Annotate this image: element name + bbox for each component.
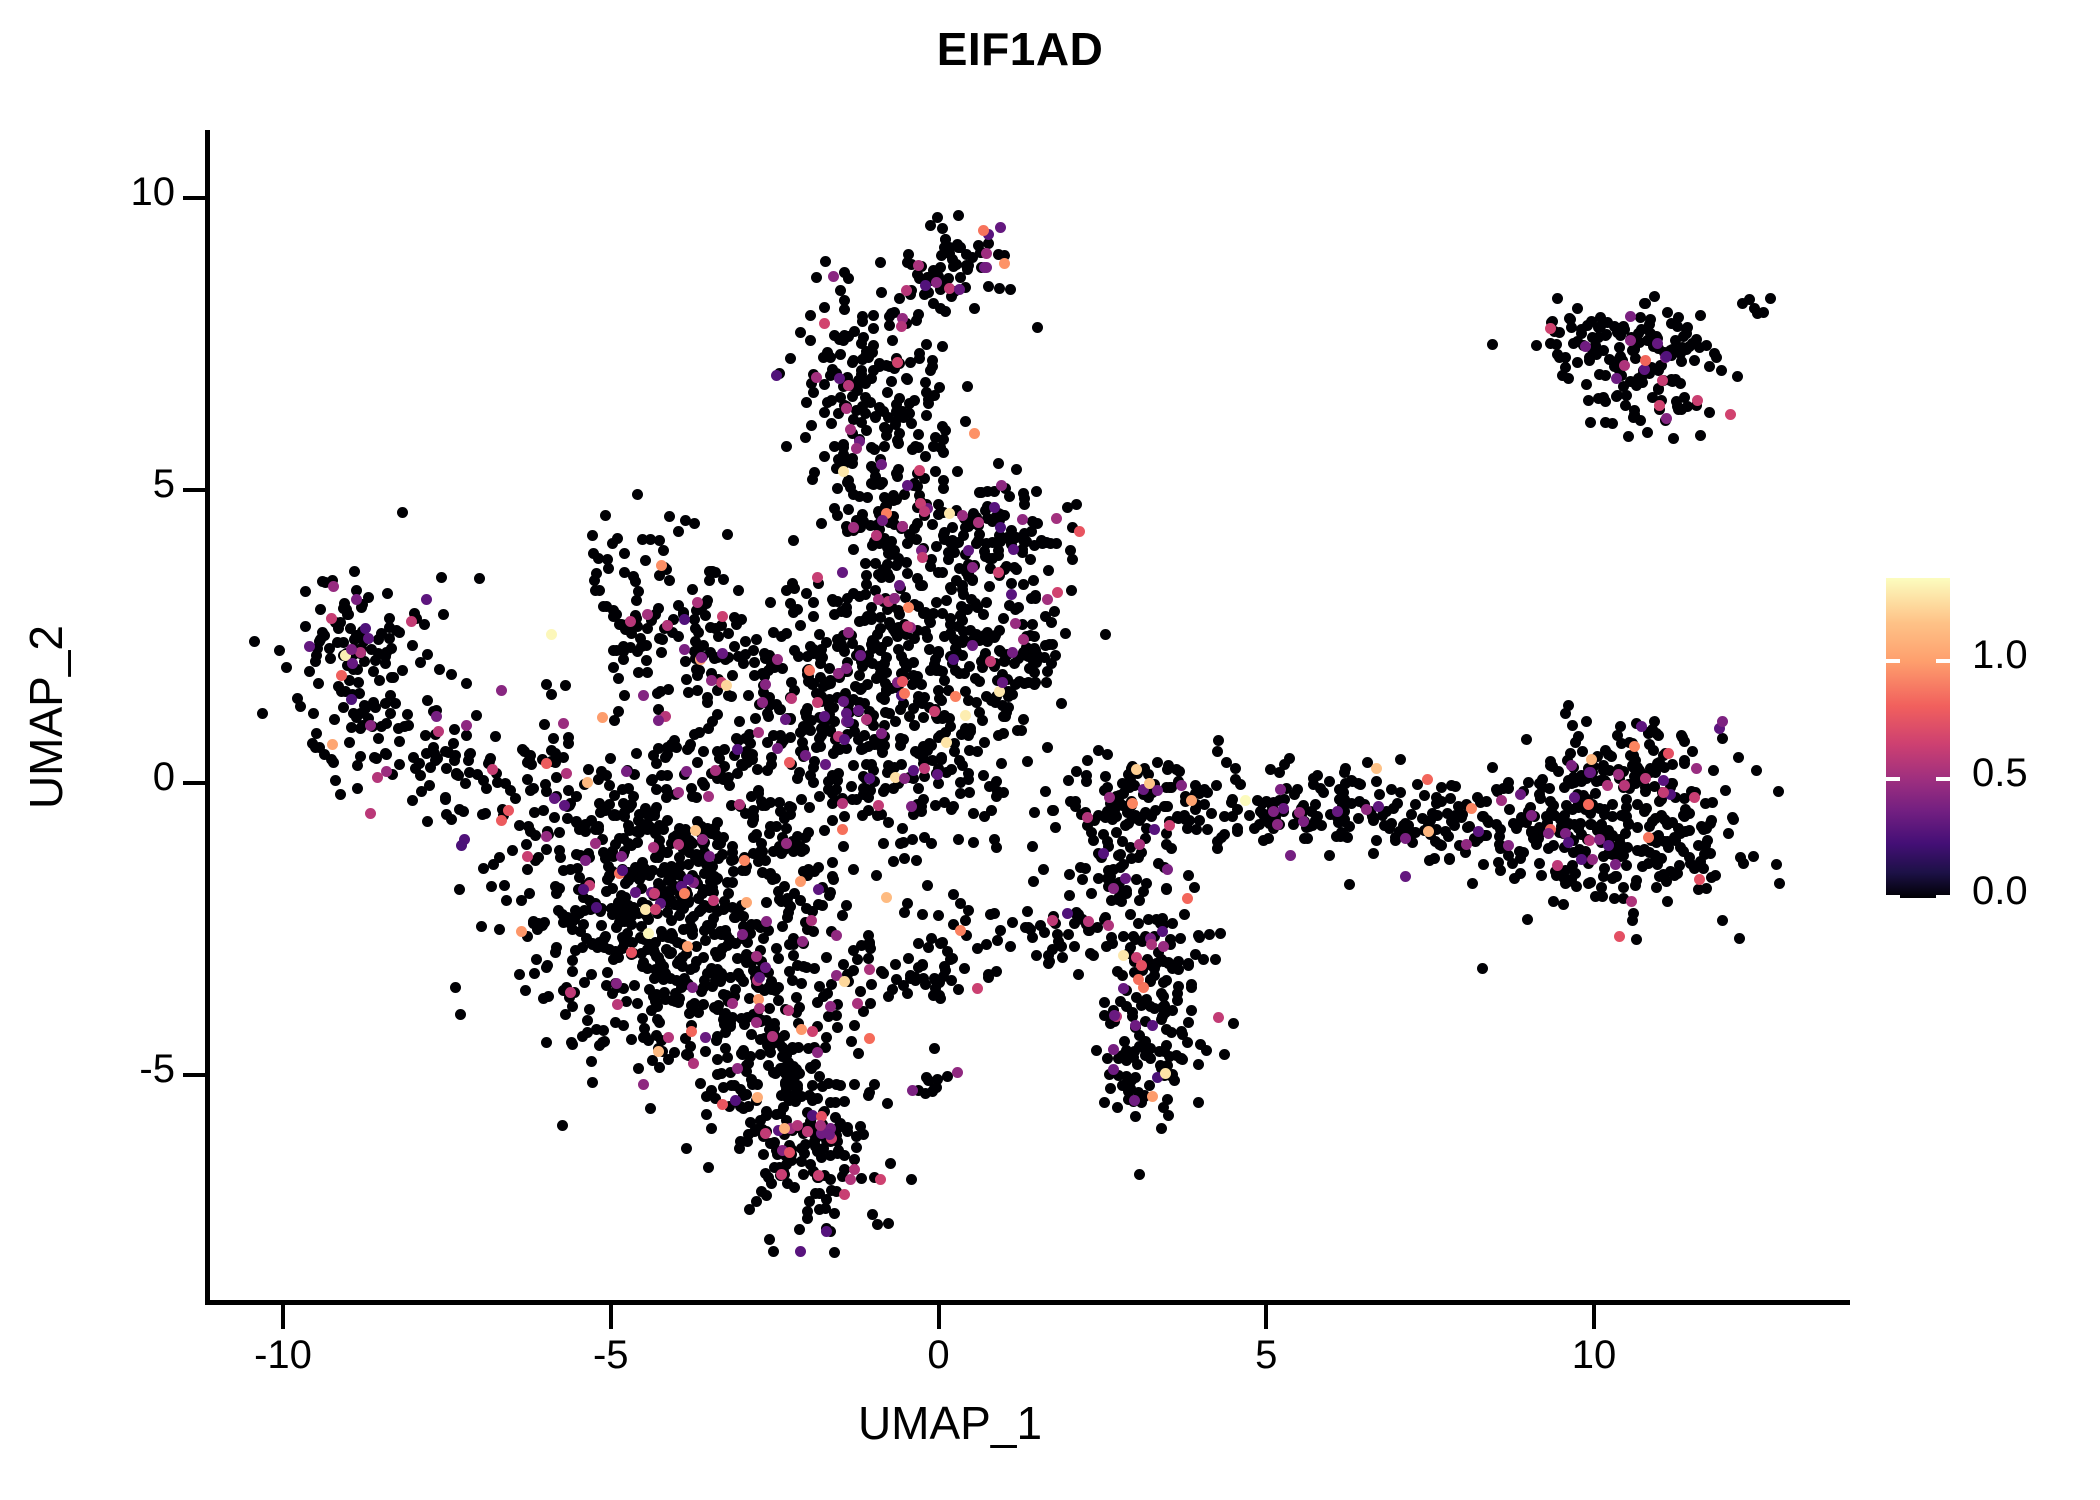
scatter-point <box>727 841 738 852</box>
scatter-point <box>967 640 978 651</box>
scatter-point <box>722 529 733 540</box>
scatter-point <box>422 816 433 827</box>
scatter-point <box>1232 823 1243 834</box>
scatter-point <box>618 654 629 665</box>
scatter-point <box>967 562 978 573</box>
scatter-point <box>1013 602 1024 613</box>
scatter-point <box>919 763 930 774</box>
scatter-point <box>1121 888 1132 899</box>
scatter-point <box>913 429 924 440</box>
scatter-point <box>481 783 492 794</box>
scatter-point <box>919 289 930 300</box>
scatter-point <box>454 884 465 895</box>
scatter-point <box>654 535 665 546</box>
scatter-point <box>853 1048 864 1059</box>
scatter-point <box>864 773 875 784</box>
scatter-point <box>420 730 431 741</box>
scatter-point <box>913 260 924 271</box>
scatter-point <box>630 862 641 873</box>
scatter-point <box>1551 339 1562 350</box>
scatter-point <box>1412 779 1423 790</box>
scatter-point <box>488 859 499 870</box>
scatter-point <box>1107 814 1118 825</box>
scatter-point <box>1548 896 1559 907</box>
scatter-point <box>712 906 723 917</box>
scatter-point <box>638 1079 649 1090</box>
scatter-point <box>1156 988 1167 999</box>
scatter-point <box>550 748 561 759</box>
scatter-point <box>1677 342 1688 353</box>
scatter-point <box>749 657 760 668</box>
scatter-point <box>887 335 898 346</box>
scatter-point <box>986 695 997 706</box>
scatter-point <box>1050 822 1061 833</box>
scatter-point <box>876 728 887 739</box>
scatter-point <box>903 953 914 964</box>
scatter-point <box>836 456 847 467</box>
scatter-point <box>806 915 817 926</box>
scatter-point <box>1066 585 1077 596</box>
scatter-point <box>700 1046 711 1057</box>
scatter-point <box>1006 589 1017 600</box>
scatter-point <box>563 732 574 743</box>
scatter-point <box>1667 759 1678 770</box>
scatter-point <box>1552 860 1563 871</box>
scatter-point <box>704 851 715 862</box>
scatter-point <box>866 979 877 990</box>
scatter-point <box>640 555 651 566</box>
scatter-point <box>571 816 582 827</box>
scatter-point <box>1581 716 1592 727</box>
scatter-point <box>916 679 927 690</box>
scatter-point <box>608 662 619 673</box>
scatter-point <box>805 310 816 321</box>
scatter-point <box>933 778 944 789</box>
scatter-point <box>751 634 762 645</box>
scatter-point <box>1534 858 1545 869</box>
scatter-point <box>950 691 961 702</box>
scatter-point <box>1737 298 1748 309</box>
scatter-point <box>711 1035 722 1046</box>
scatter-point <box>757 867 768 878</box>
scatter-point <box>805 335 816 346</box>
scatter-point <box>1620 400 1631 411</box>
scatter-point <box>1131 874 1142 885</box>
scatter-point <box>920 377 931 388</box>
scatter-point <box>1654 400 1665 411</box>
scatter-point <box>1156 1123 1167 1134</box>
scatter-point <box>1056 698 1067 709</box>
scatter-point <box>1051 513 1062 524</box>
scatter-point <box>449 724 460 735</box>
scatter-point <box>1011 564 1022 575</box>
scatter-point <box>768 1067 779 1078</box>
scatter-point <box>454 804 465 815</box>
scatter-point <box>945 537 956 548</box>
scatter-point <box>1093 745 1104 756</box>
scatter-point <box>989 502 1000 513</box>
scatter-point <box>582 777 593 788</box>
scatter-point <box>1565 748 1576 759</box>
scatter-point <box>1504 804 1515 815</box>
scatter-point <box>1093 873 1104 884</box>
colorbar-gradient <box>1886 578 1950 898</box>
scatter-point <box>837 567 848 578</box>
scatter-point <box>1467 878 1478 889</box>
scatter-point <box>848 760 859 771</box>
scatter-point <box>931 277 942 288</box>
scatter-point <box>851 443 862 454</box>
scatter-point <box>653 603 664 614</box>
scatter-point <box>407 795 418 806</box>
scatter-point <box>1146 811 1157 822</box>
scatter-point <box>1052 929 1063 940</box>
scatter-point <box>345 623 356 634</box>
scatter-point <box>311 728 322 739</box>
scatter-point <box>1212 843 1223 854</box>
scatter-point <box>929 1043 940 1054</box>
scatter-point <box>789 583 800 594</box>
scatter-point <box>801 588 812 599</box>
colorbar-tick-label: 0.0 <box>1972 869 2028 914</box>
scatter-point <box>415 770 426 781</box>
scatter-point <box>1221 757 1232 768</box>
scatter-point <box>796 978 807 989</box>
scatter-point <box>1003 691 1014 702</box>
scatter-point <box>811 272 822 283</box>
scatter-point <box>808 597 819 608</box>
scatter-point <box>860 589 871 600</box>
scatter-point <box>1553 766 1564 777</box>
scatter-point <box>1018 634 1029 645</box>
scatter-point <box>1042 594 1053 605</box>
scatter-point <box>872 1219 883 1230</box>
scatter-point <box>1133 918 1144 929</box>
scatter-point <box>1669 870 1680 881</box>
scatter-point <box>819 407 830 418</box>
scatter-point <box>692 670 703 681</box>
scatter-point <box>903 640 914 651</box>
scatter-point <box>346 644 357 655</box>
scatter-point <box>1450 781 1461 792</box>
scatter-point <box>558 718 569 729</box>
scatter-point <box>1636 721 1647 732</box>
scatter-point <box>1077 874 1088 885</box>
scatter-point <box>1628 762 1639 773</box>
scatter-point <box>743 1101 754 1112</box>
scatter-point <box>631 595 642 606</box>
scatter-point <box>805 641 816 652</box>
scatter-point <box>968 808 979 819</box>
scatter-point <box>1042 742 1053 753</box>
scatter-point <box>781 441 792 452</box>
scatter-point <box>914 465 925 476</box>
scatter-point <box>1158 1102 1169 1113</box>
scatter-point <box>419 619 430 630</box>
scatter-point <box>807 1026 818 1037</box>
scatter-point <box>825 1001 836 1012</box>
scatter-point <box>1566 760 1577 771</box>
scatter-point <box>890 959 901 970</box>
scatter-point <box>673 839 684 850</box>
scatter-point <box>1427 808 1438 819</box>
scatter-point <box>1395 754 1406 765</box>
scatter-point <box>1191 824 1202 835</box>
scatter-point <box>1219 829 1230 840</box>
x-tick-mark <box>937 1305 941 1329</box>
scatter-point <box>981 597 992 608</box>
scatter-point <box>1007 647 1018 658</box>
scatter-point <box>1576 854 1587 865</box>
scatter-point <box>683 859 694 870</box>
scatter-point <box>507 845 518 856</box>
scatter-point <box>897 406 908 417</box>
scatter-point <box>899 688 910 699</box>
scatter-point <box>637 1013 648 1024</box>
scatter-point <box>648 842 659 853</box>
x-tick-label: -5 <box>531 1333 691 1378</box>
scatter-point <box>587 530 598 541</box>
scatter-point <box>550 947 561 958</box>
scatter-point <box>1522 914 1533 925</box>
scatter-point <box>923 942 934 953</box>
scatter-point <box>941 737 952 748</box>
scatter-point <box>882 1098 893 1109</box>
scatter-point <box>598 1025 609 1036</box>
scatter-point <box>827 815 838 826</box>
scatter-point <box>465 748 476 759</box>
scatter-point <box>838 841 849 852</box>
scatter-point <box>878 838 889 849</box>
scatter-point <box>638 690 649 701</box>
scatter-point <box>1368 848 1379 859</box>
scatter-point <box>1213 1012 1224 1023</box>
scatter-point <box>1693 884 1704 895</box>
scatter-point <box>336 670 347 681</box>
scatter-point <box>1466 803 1477 814</box>
scatter-point <box>771 370 782 381</box>
scatter-point <box>978 609 989 620</box>
scatter-point <box>602 967 613 978</box>
scatter-point <box>920 280 931 291</box>
scatter-point <box>1108 1064 1119 1075</box>
scatter-point <box>940 234 951 245</box>
scatter-point <box>1450 810 1461 821</box>
scatter-point <box>1695 310 1706 321</box>
scatter-point <box>945 721 956 732</box>
scatter-point <box>800 750 811 761</box>
scatter-point <box>542 960 553 971</box>
scatter-point <box>925 365 936 376</box>
scatter-point <box>1656 853 1667 864</box>
scatter-point <box>1543 828 1554 839</box>
scatter-point <box>1164 820 1175 831</box>
scatter-point <box>918 794 929 805</box>
scatter-point <box>673 631 684 642</box>
scatter-point <box>1091 1045 1102 1056</box>
scatter-point <box>1161 1024 1172 1035</box>
scatter-point <box>804 802 815 813</box>
scatter-point <box>1725 409 1736 420</box>
scatter-point <box>1175 933 1186 944</box>
scatter-point <box>839 734 850 745</box>
scatter-point <box>315 604 326 615</box>
colorbar-tick-mark <box>1936 659 1950 663</box>
scatter-point <box>1585 767 1596 778</box>
scatter-point <box>541 758 552 769</box>
scatter-point <box>520 985 531 996</box>
scatter-point <box>957 637 968 648</box>
scatter-point <box>652 688 663 699</box>
scatter-point <box>942 1071 953 1082</box>
scatter-point <box>742 1136 753 1147</box>
scatter-point <box>903 602 914 613</box>
scatter-point <box>715 949 726 960</box>
scatter-point <box>1292 784 1303 795</box>
scatter-point <box>1371 835 1382 846</box>
scatter-point <box>1318 787 1329 798</box>
scatter-point <box>713 631 724 642</box>
scatter-point <box>1531 839 1542 850</box>
scatter-point <box>740 636 751 647</box>
scatter-point <box>1494 831 1505 842</box>
scatter-point <box>421 594 432 605</box>
scatter-point <box>1018 488 1029 499</box>
scatter-point <box>1774 878 1785 889</box>
scatter-point <box>1041 677 1052 688</box>
scatter-point <box>712 817 723 828</box>
scatter-point <box>1689 355 1700 366</box>
scatter-point <box>998 613 1009 624</box>
scatter-point <box>857 374 868 385</box>
scatter-point <box>685 739 696 750</box>
scatter-point <box>456 840 467 851</box>
scatter-point <box>1495 865 1506 876</box>
scatter-point <box>794 1068 805 1079</box>
scatter-point <box>1602 780 1613 791</box>
scatter-point <box>1212 746 1223 757</box>
scatter-point <box>1353 813 1364 824</box>
scatter-point <box>952 466 963 477</box>
scatter-point <box>937 223 948 234</box>
scatter-point <box>1419 790 1430 801</box>
scatter-point <box>310 656 321 667</box>
scatter-point <box>914 348 925 359</box>
scatter-point <box>516 926 527 937</box>
x-axis-title: UMAP_1 <box>0 1396 1900 1450</box>
scatter-point <box>1584 835 1595 846</box>
scatter-point <box>1603 749 1614 760</box>
colorbar-tick-label: 0.5 <box>1972 751 2028 796</box>
scatter-point <box>758 933 769 944</box>
scatter-point <box>875 257 886 268</box>
scatter-point <box>394 736 405 747</box>
scatter-point <box>1436 796 1447 807</box>
scatter-point <box>614 833 625 844</box>
scatter-point <box>679 888 690 899</box>
scatter-point <box>953 984 964 995</box>
scatter-point <box>843 716 854 727</box>
scatter-point <box>1374 789 1385 800</box>
scatter-point <box>1640 355 1651 366</box>
scatter-point <box>700 935 711 946</box>
scatter-point <box>1410 799 1421 810</box>
scatter-point <box>1166 843 1177 854</box>
scatter-point <box>376 628 387 639</box>
scatter-point <box>1027 841 1038 852</box>
scatter-point <box>913 783 924 794</box>
scatter-point <box>689 998 700 1009</box>
scatter-point <box>955 925 966 936</box>
scatter-point <box>820 759 831 770</box>
scatter-point <box>737 929 748 940</box>
scatter-point <box>802 1126 813 1137</box>
scatter-point <box>679 644 690 655</box>
scatter-point <box>1098 829 1109 840</box>
y-tick-mark <box>183 1073 205 1077</box>
scatter-point <box>1673 312 1684 323</box>
scatter-point <box>681 766 692 777</box>
scatter-point <box>1577 746 1588 757</box>
scatter-point <box>635 633 646 644</box>
scatter-point <box>1119 1036 1130 1047</box>
scatter-point <box>948 801 959 812</box>
scatter-point <box>832 1022 843 1033</box>
scatter-point <box>839 811 850 822</box>
scatter-point <box>1161 884 1172 895</box>
scatter-point <box>486 881 497 892</box>
scatter-point <box>982 486 993 497</box>
scatter-point <box>300 621 311 632</box>
scatter-point <box>1186 982 1197 993</box>
y-tick-mark <box>183 488 205 492</box>
scatter-point <box>760 1168 771 1179</box>
scatter-point <box>727 998 738 1009</box>
scatter-point <box>1007 917 1018 928</box>
scatter-point <box>295 701 306 712</box>
scatter-point <box>1147 1091 1158 1102</box>
scatter-point <box>680 656 691 667</box>
scatter-point <box>1758 307 1769 318</box>
scatter-point <box>670 988 681 999</box>
scatter-point <box>933 910 944 921</box>
scatter-point <box>773 953 784 964</box>
scatter-point <box>381 718 392 729</box>
scatter-point <box>753 856 764 867</box>
scatter-point <box>621 766 632 777</box>
scatter-point <box>799 724 810 735</box>
scatter-point <box>932 769 943 780</box>
scatter-point <box>758 1149 769 1160</box>
scatter-point <box>1723 828 1734 839</box>
scatter-point <box>764 1234 775 1245</box>
scatter-point <box>567 955 578 966</box>
scatter-point <box>589 575 600 586</box>
scatter-point <box>1371 776 1382 787</box>
scatter-point <box>964 661 975 672</box>
scatter-point <box>402 709 413 720</box>
scatter-point <box>1518 847 1529 858</box>
scatter-point <box>1046 617 1057 628</box>
scatter-point <box>855 986 866 997</box>
scatter-point <box>864 964 875 975</box>
scatter-point <box>1118 983 1129 994</box>
scatter-point <box>300 586 311 597</box>
scatter-point <box>739 855 750 866</box>
scatter-point <box>455 1009 466 1020</box>
scatter-point <box>501 895 512 906</box>
scatter-point <box>877 515 888 526</box>
